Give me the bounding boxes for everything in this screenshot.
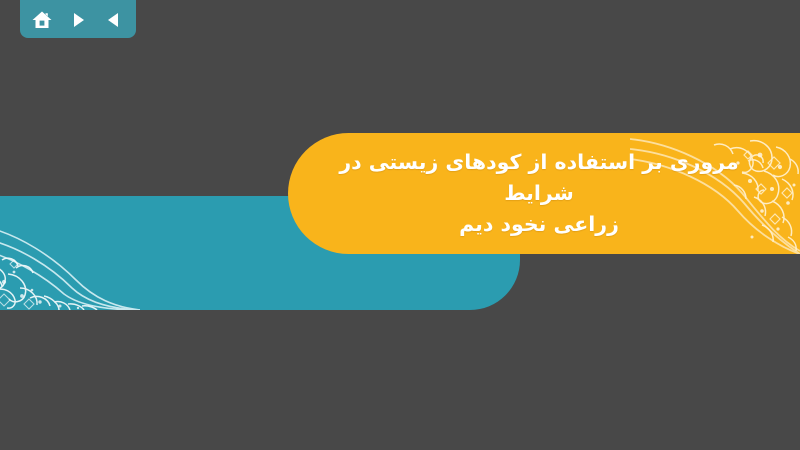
triangle-right-icon: [68, 10, 88, 30]
slide-title-line-1: مروری بر استفاده از کودهای زیستی در شرای…: [312, 147, 766, 209]
slide-title-line-2: زراعی نخود دیم: [459, 209, 619, 240]
triangle-left-icon: [104, 10, 124, 30]
slide-navigation-bar: [20, 0, 136, 38]
slide-title: مروری بر استفاده از کودهای زیستی در شرای…: [288, 133, 800, 254]
slide-canvas: مروری بر استفاده از کودهای زیستی در شرای…: [0, 0, 800, 450]
home-button[interactable]: [31, 9, 53, 31]
home-icon: [31, 9, 53, 31]
previous-slide-button[interactable]: [103, 9, 125, 31]
teal-arabesque-ornament-icon: [0, 210, 140, 310]
next-slide-button[interactable]: [67, 9, 89, 31]
title-banner: مروری بر استفاده از کودهای زیستی در شرای…: [288, 133, 800, 254]
